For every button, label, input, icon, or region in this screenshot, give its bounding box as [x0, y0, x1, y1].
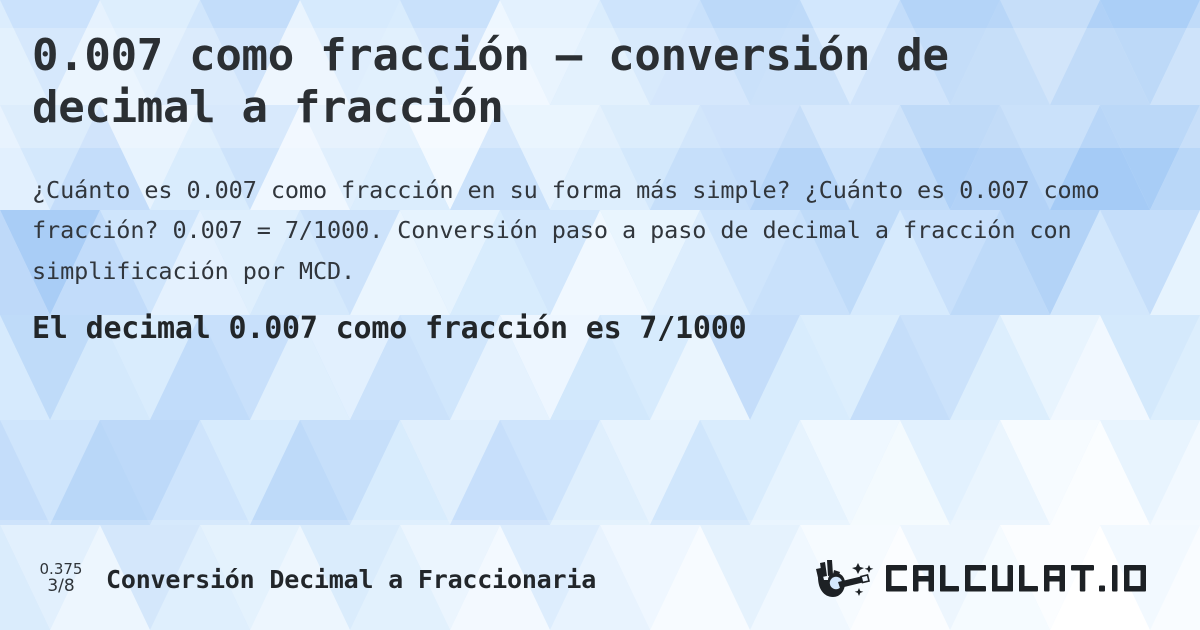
footer-category-label: Conversión Decimal a Fraccionaria — [106, 565, 596, 594]
wand-hand-icon — [814, 557, 880, 601]
fraction-icon: 0.375 3/8 — [30, 562, 92, 596]
og-card: 0.007 como fracción – conversión de deci… — [0, 0, 1200, 630]
footer: 0.375 3/8 Conversión Decimal a Fracciona… — [0, 552, 1200, 606]
card-content: 0.007 como fracción – conversión de deci… — [0, 0, 1200, 630]
result-statement: El decimal 0.007 como fracción es 7/1000 — [32, 311, 1168, 346]
brand-logo[interactable]: CALCULAT.IO — [814, 557, 1174, 601]
footer-left-group: 0.375 3/8 Conversión Decimal a Fracciona… — [30, 562, 596, 596]
page-title: 0.007 como fracción – conversión de deci… — [32, 30, 1112, 134]
logo-wordmark-calculatio: CALCULAT.IO — [884, 557, 1174, 601]
fraction-icon-fraction: 3/8 — [47, 578, 74, 596]
description-text: ¿Cuánto es 0.007 como fracción en su for… — [32, 170, 1147, 291]
